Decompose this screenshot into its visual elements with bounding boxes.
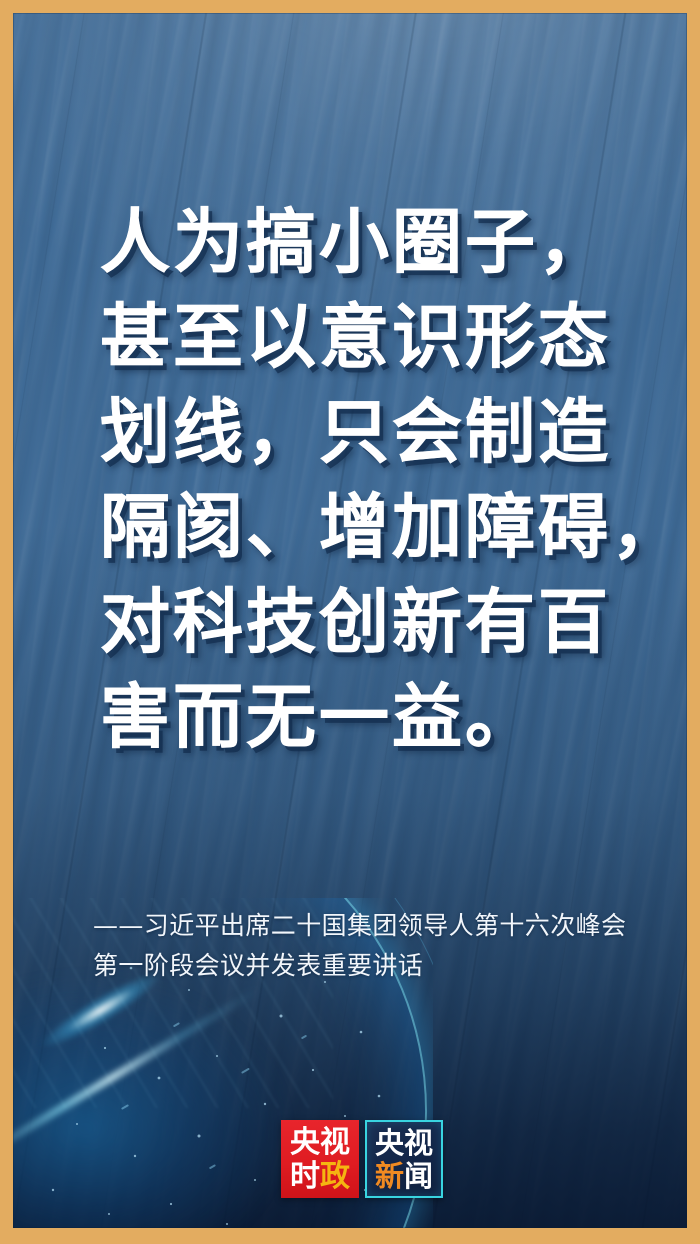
logo-cctv-xinwen[interactable]: 央视 新闻 xyxy=(365,1120,443,1198)
attribution-line: ——习近平出席二十国集团领导人第十六次峰会 xyxy=(93,906,663,946)
logo-shizheng-char-shi: 时 xyxy=(290,1160,320,1193)
logo-shizheng-bottom: 时政 xyxy=(290,1160,350,1193)
logo-xinwen-top: 央视 xyxy=(375,1127,433,1159)
logo-shizheng-char-zheng: 政 xyxy=(320,1160,350,1193)
logo-group: 央视 时政 央视 新闻 xyxy=(281,1120,443,1198)
logo-shizheng-top: 央视 xyxy=(290,1126,350,1159)
poster-frame: 人为搞小圈子， 甚至以意识形态 划线，只会制造 隔阂、增加障碍， 对科技创新有百… xyxy=(0,0,700,1244)
attribution-block: ——习近平出席二十国集团领导人第十六次峰会 第一阶段会议并发表重要讲话 xyxy=(93,906,663,986)
headline-line: 划线，只会制造 xyxy=(100,385,660,480)
headline-line: 人为搞小圈子， xyxy=(100,195,660,290)
logo-xinwen-bottom: 新闻 xyxy=(375,1160,433,1192)
glow-beam xyxy=(13,986,261,1163)
headline-line: 甚至以意识形态 xyxy=(100,290,660,385)
headline-line: 害而无一益。 xyxy=(100,670,660,765)
headline-line: 对科技创新有百 xyxy=(100,575,660,670)
logo-cctv-shizheng[interactable]: 央视 时政 xyxy=(281,1120,359,1198)
headline-line: 隔阂、增加障碍， xyxy=(100,480,660,575)
logo-xinwen-char-wen: 闻 xyxy=(404,1160,433,1192)
logo-xinwen-char-xin: 新 xyxy=(375,1160,404,1192)
attribution-line: 第一阶段会议并发表重要讲话 xyxy=(93,946,663,986)
poster-canvas: 人为搞小圈子， 甚至以意识形态 划线，只会制造 隔阂、增加障碍， 对科技创新有百… xyxy=(13,13,687,1228)
headline-quote: 人为搞小圈子， 甚至以意识形态 划线，只会制造 隔阂、增加障碍， 对科技创新有百… xyxy=(100,195,660,765)
